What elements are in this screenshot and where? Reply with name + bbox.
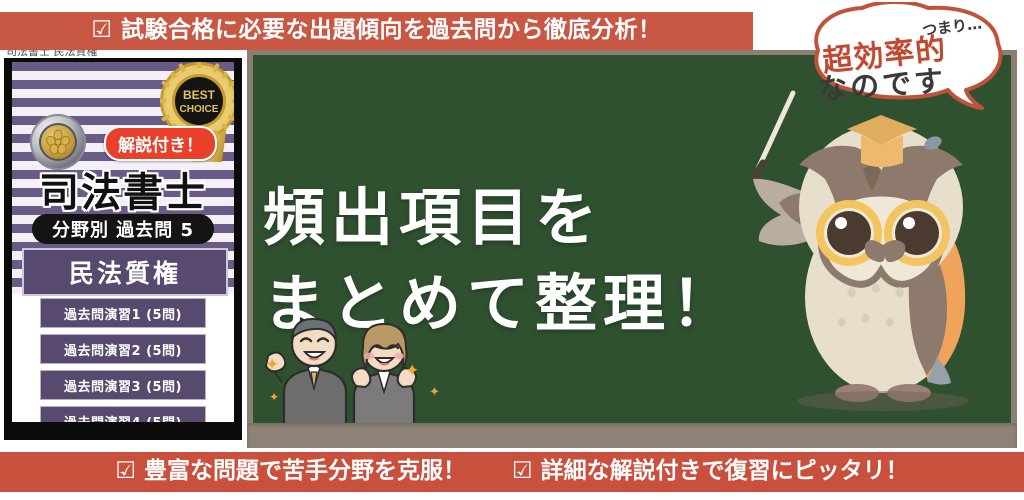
bottom-banner-text-right: ☑ 詳細な解説付きで復習にピッタリ！ bbox=[512, 460, 909, 483]
app-screen: BEST CHOICE 解説付き！ 司法書士 分野別 過去問 5 民法質権 過去… bbox=[12, 62, 234, 422]
cover-subtitle: 分野別 過去問 5 bbox=[32, 214, 214, 244]
sparkle-icon: ✦ bbox=[405, 361, 419, 381]
seal-line1: BEST bbox=[183, 88, 216, 102]
section-heading: 民法質権 bbox=[22, 248, 228, 296]
owl-teacher-character bbox=[751, 75, 1001, 423]
kaisetsu-badge: 解説付き！ bbox=[104, 126, 217, 161]
kamon-crest-icon bbox=[44, 128, 72, 156]
app-phone-mockup: 司法書士 民法質権 bbox=[0, 58, 246, 440]
menu-item-practice-4[interactable]: 過去問演習4 (5問) bbox=[40, 406, 206, 422]
bottom-banner: ☑ 豊富な問題で苦手分野を克服！ ☑ 詳細な解説付きで復習にピッタリ！ bbox=[0, 452, 1024, 492]
speech-bubble-line2: なのです bbox=[817, 58, 948, 109]
bottom-banner-text-left: ☑ 豊富な問題で苦手分野を克服！ bbox=[115, 460, 466, 483]
sparkle-icon: ✦ bbox=[265, 355, 279, 375]
blackboard-surface: 頻出項目を まとめて整理！ bbox=[253, 55, 1011, 423]
speech-bubble: つまり… 超効率的 なのです bbox=[800, 2, 1018, 110]
menu-item-practice-3[interactable]: 過去問演習3 (5問) bbox=[40, 370, 206, 400]
cover-title: 司法書士 bbox=[12, 160, 234, 218]
menu-item-practice-1[interactable]: 過去問演習1 (5問) bbox=[40, 298, 206, 328]
menu-item-practice-2[interactable]: 過去問演習2 (5問) bbox=[40, 334, 206, 364]
blackboard-line1: 頻出項目を bbox=[263, 167, 603, 257]
seal-line2: CHOICE bbox=[180, 104, 219, 115]
practice-menu-list: 過去問演習1 (5問) 過去問演習2 (5問) 過去問演習3 (5問) 過去問演… bbox=[12, 298, 234, 422]
top-banner-text: ☑ 試験合格に必要な出題傾向を過去問から徹底分析！ bbox=[91, 19, 661, 42]
sparkle-icon: ✦ bbox=[269, 390, 279, 404]
sparkle-icon: ✦ bbox=[429, 385, 440, 400]
promo-screenshot: ☑ 試験合格に必要な出題傾向を過去問から徹底分析！ つまり… 超効率的 なのです… bbox=[0, 0, 1024, 500]
pointer-stick-icon bbox=[753, 93, 793, 179]
top-banner: ☑ 試験合格に必要な出題傾向を過去問から徹底分析！ bbox=[0, 12, 753, 50]
blackboard-ledge bbox=[247, 423, 1017, 448]
